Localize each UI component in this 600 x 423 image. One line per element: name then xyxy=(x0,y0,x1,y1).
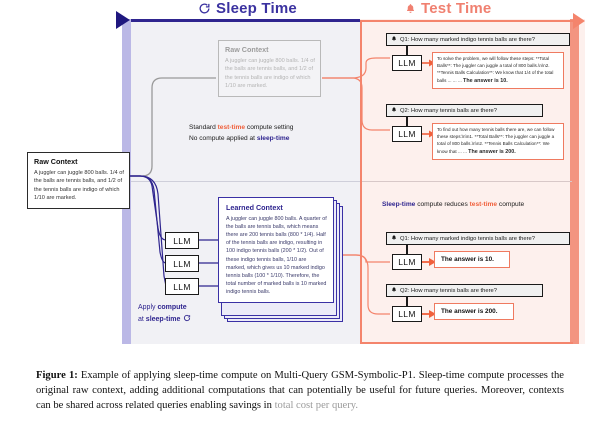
standard-note2-prefix: No compute applied at xyxy=(189,135,257,142)
reduce-note-mid: compute reduces xyxy=(415,201,469,208)
llm-box-sleep-2[interactable]: LLM xyxy=(165,255,199,272)
test-time-header: Test Time xyxy=(405,0,491,17)
raw-context-ghost-body: A juggler can juggle 800 balls. 1/4 of t… xyxy=(225,57,315,92)
sleep-time-arrowhead-icon xyxy=(116,11,130,29)
raw-context-title: Raw Context xyxy=(34,157,124,166)
standard-test-time-note: Standard test-time compute setting No co… xyxy=(189,122,293,144)
llm-box-test-4[interactable]: LLM xyxy=(392,306,422,322)
apply-compute-label: Apply compute at sleep-time xyxy=(138,303,191,327)
standard-note2-sleep-time-em: sleep-time xyxy=(257,135,290,142)
question-bar-q2-top-label: Q2: How many tennis balls are there? xyxy=(400,108,497,114)
sleep-time-header: Sleep Time xyxy=(198,0,297,17)
test-time-header-label: Test Time xyxy=(421,0,491,17)
answer-box-short-1: The answer is 10. xyxy=(434,251,510,268)
standard-note-test-time-em: test-time xyxy=(218,124,245,131)
learned-context-body: A juggler can juggle 800 balls. A quarte… xyxy=(226,215,327,297)
figure-caption-lead: Figure 1: xyxy=(36,370,78,381)
bell-icon-q2-bottom xyxy=(391,286,397,295)
test-time-arrowhead-icon xyxy=(573,13,585,29)
llm-box-test-3[interactable]: LLM xyxy=(392,254,422,270)
test-time-left-axis xyxy=(360,20,362,344)
standard-note-prefix: Standard xyxy=(189,124,218,131)
test-time-bottom-axis xyxy=(360,342,573,344)
bell-icon-q1-bottom xyxy=(391,234,397,243)
question-bar-q1-top: Q1: How many marked indigo tennis balls … xyxy=(386,33,570,46)
bell-icon-q1-top xyxy=(391,35,397,44)
refresh-circle-icon-small xyxy=(183,314,191,327)
llm-box-test-1[interactable]: LLM xyxy=(392,55,422,71)
raw-context-box: Raw Context A juggler can juggle 800 bal… xyxy=(27,152,130,209)
bell-icon xyxy=(405,2,416,15)
llm-box-sleep-1[interactable]: LLM xyxy=(165,232,199,249)
standard-note-suffix: compute setting xyxy=(245,124,293,131)
question-bar-q1-bottom-label: Q1: How many marked indigo tennis balls … xyxy=(400,236,535,242)
reduce-note-sleep-time-em: Sleep-time xyxy=(382,201,415,208)
refresh-circle-icon xyxy=(198,2,211,15)
question-bar-q2-top: Q2: How many tennis balls are there? xyxy=(386,104,543,117)
question-bar-q1-top-label: Q1: How many marked indigo tennis balls … xyxy=(400,37,535,43)
sleep-time-top-axis xyxy=(131,19,360,22)
test-time-top-axis xyxy=(360,20,573,22)
learned-context-box: Learned Context A juggler can juggle 800… xyxy=(218,197,334,303)
answer-box-long-1: To solve the problem, we will follow the… xyxy=(432,52,564,89)
apply-label2-prefix: at xyxy=(138,316,146,323)
llm-box-test-2[interactable]: LLM xyxy=(392,126,422,142)
question-bar-q2-bottom-label: Q2: How many tennis balls are there? xyxy=(400,288,497,294)
sleep-panel-divider xyxy=(131,181,360,182)
sleep-time-header-label: Sleep Time xyxy=(216,0,297,17)
apply-label-prefix: Apply xyxy=(138,304,157,311)
raw-context-body: A juggler can juggle 800 balls. 1/4 of t… xyxy=(34,169,124,204)
reduce-note-test-time-em: test-time xyxy=(470,201,497,208)
figure-caption-faded: total cost per query. xyxy=(275,400,358,411)
question-bar-q1-bottom: Q1: How many marked indigo tennis balls … xyxy=(386,232,570,245)
apply-label-compute-em: compute xyxy=(157,304,186,311)
test-panel-divider xyxy=(362,181,572,182)
learned-context-title: Learned Context xyxy=(226,203,327,212)
figure-diagram: Sleep Time Test Time xyxy=(0,0,600,355)
figure-caption: Figure 1: Example of applying sleep-time… xyxy=(36,368,564,413)
question-bar-q2-bottom: Q2: How many tennis balls are there? xyxy=(386,284,543,297)
answer-box-short-2: The answer is 200. xyxy=(434,303,514,320)
sleep-reduces-test-note: Sleep-time compute reduces test-time com… xyxy=(382,199,524,210)
answer-long-2-bold: The answer is 200. xyxy=(468,149,516,155)
reduce-note-end: compute xyxy=(497,201,524,208)
llm-box-sleep-3[interactable]: LLM xyxy=(165,278,199,295)
apply-label2-sleep-time-em: sleep-time xyxy=(146,316,181,323)
bell-icon-q2-top xyxy=(391,106,397,115)
answer-box-long-2: To find out how many tennis balls there … xyxy=(432,123,564,160)
answer-long-1-bold: The answer is 10. xyxy=(463,78,508,84)
raw-context-ghost-title: Raw Context xyxy=(225,45,315,54)
raw-context-ghost-box: Raw Context A juggler can juggle 800 bal… xyxy=(218,40,321,97)
